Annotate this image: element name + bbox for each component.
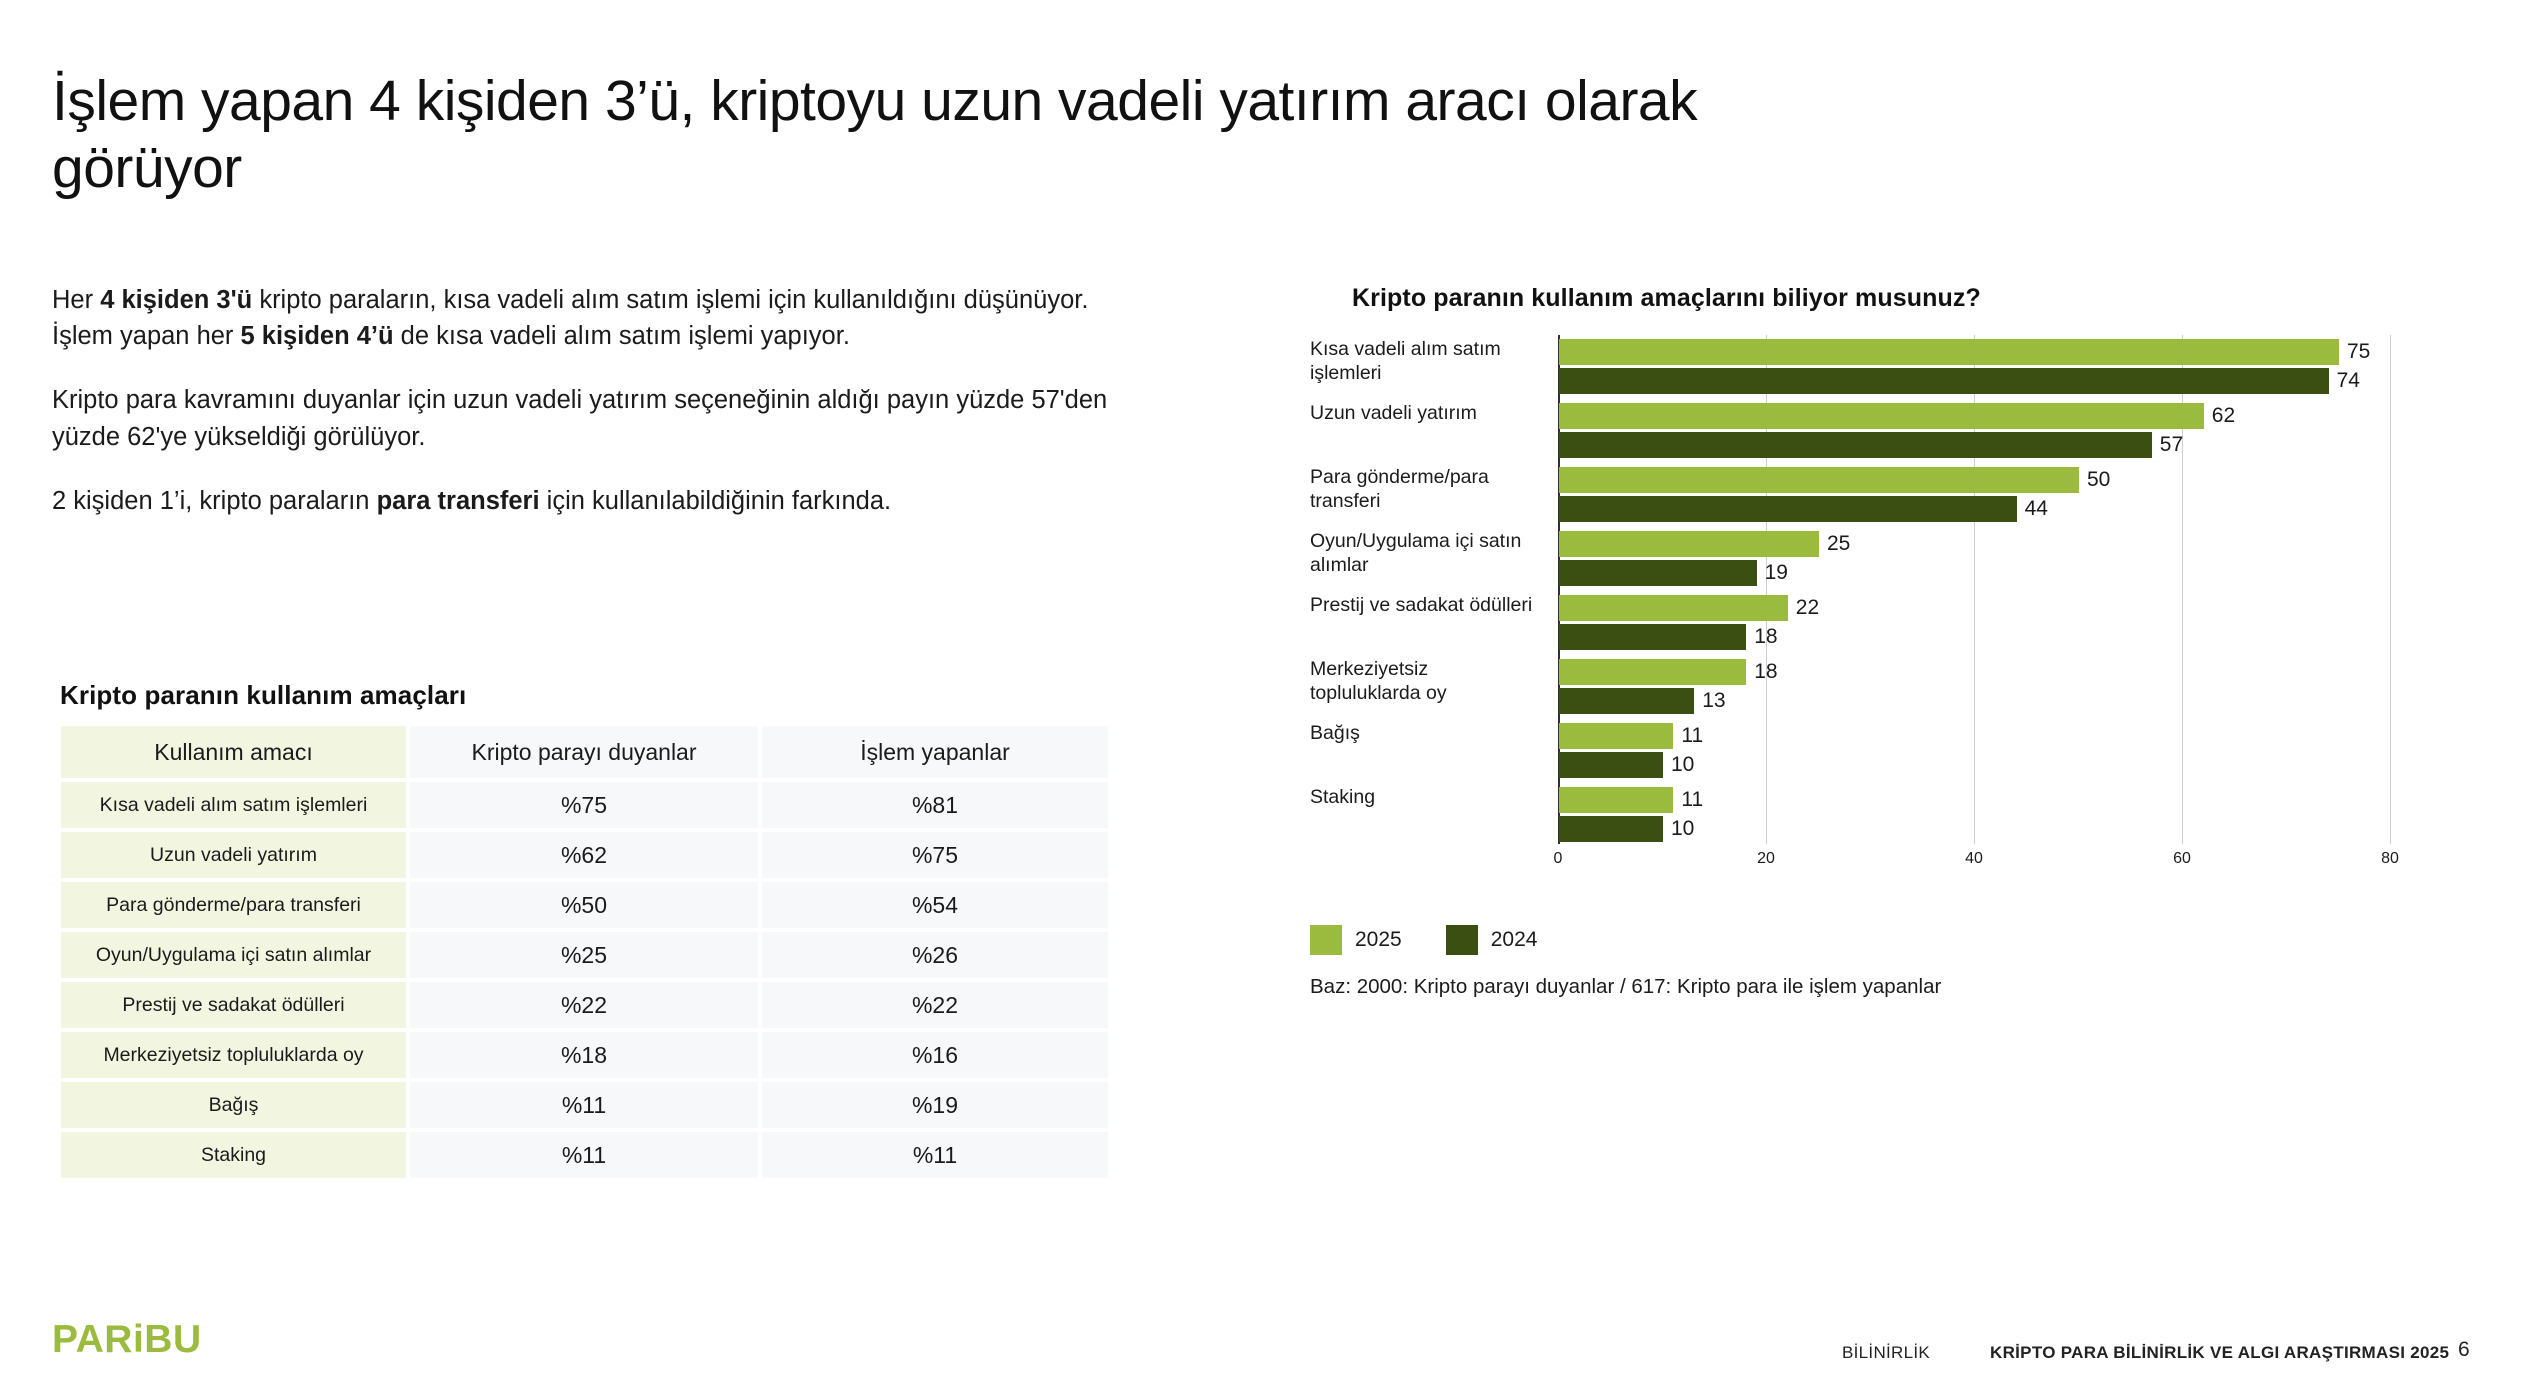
table-cell-purpose: Para gönderme/para transferi bbox=[61, 882, 406, 928]
p1-part-a: Her bbox=[52, 286, 100, 314]
chart-bar bbox=[1559, 560, 1757, 586]
chart-bar-value: 11 bbox=[1681, 723, 1703, 749]
table-cell-traders: %26 bbox=[762, 932, 1108, 978]
chart-bar-value: 10 bbox=[1671, 816, 1694, 842]
chart-bar bbox=[1559, 467, 2079, 493]
table-cell-traders: %19 bbox=[762, 1082, 1108, 1128]
chart-x-tick-label: 40 bbox=[1965, 850, 1983, 868]
paragraph-1: Her 4 kişiden 3'ü kripto paraların, kısa… bbox=[52, 282, 1142, 354]
chart-x-tick-label: 80 bbox=[2381, 850, 2399, 868]
chart-bar bbox=[1559, 531, 1819, 557]
chart-bar-value: 25 bbox=[1827, 531, 1850, 557]
chart-legend: 2025 2024 bbox=[1310, 925, 1567, 955]
chart-bar bbox=[1559, 624, 1746, 650]
table-cell-aware: %50 bbox=[410, 882, 758, 928]
chart-bar-value: 75 bbox=[2347, 339, 2370, 365]
chart-bar bbox=[1559, 595, 1788, 621]
chart-base-note: Baz: 2000: Kripto parayı duyanlar / 617:… bbox=[1310, 975, 1941, 999]
chart-category-label: Para gönderme/para transferi bbox=[1310, 466, 1538, 514]
p3-part-a: 2 kişiden 1’i, kripto paraların bbox=[52, 487, 377, 515]
legend-label-2024: 2024 bbox=[1491, 928, 1538, 952]
legend-swatch-2025-icon bbox=[1310, 925, 1342, 955]
chart-bar-value: 22 bbox=[1796, 595, 1819, 621]
table-cell-purpose: Uzun vadeli yatırım bbox=[61, 832, 406, 878]
chart-bar bbox=[1559, 787, 1673, 813]
table-cell-aware: %25 bbox=[410, 932, 758, 978]
table-row: Oyun/Uygulama içi satın alımlar%25%26 bbox=[61, 932, 1108, 978]
chart-bar bbox=[1559, 496, 2017, 522]
chart-category-label: Kısa vadeli alım satım işlemleri bbox=[1310, 338, 1538, 386]
chart-bar-value: 13 bbox=[1702, 688, 1725, 714]
table-cell-purpose: Staking bbox=[61, 1132, 406, 1178]
chart-bar-value: 18 bbox=[1754, 624, 1777, 650]
table-cell-aware: %62 bbox=[410, 832, 758, 878]
table-header-row: Kullanım amacı Kripto parayı duyanlar İş… bbox=[61, 726, 1108, 778]
chart-bar-value: 44 bbox=[2025, 496, 2048, 522]
p1-part-e: de kısa vadeli alım satım işlemi yapıyor… bbox=[394, 322, 850, 350]
paragraph-2: Kripto para kavramını duyanlar için uzun… bbox=[52, 382, 1142, 454]
table-cell-aware: %22 bbox=[410, 982, 758, 1028]
table-cell-traders: %54 bbox=[762, 882, 1108, 928]
table-cell-purpose: Oyun/Uygulama içi satın alımlar bbox=[61, 932, 406, 978]
table-cell-aware: %18 bbox=[410, 1032, 758, 1078]
chart-bar bbox=[1559, 659, 1746, 685]
chart-plot-area: 0204060807574625750442519221818131110111… bbox=[1558, 335, 2390, 844]
chart-category-label: Merkeziyetsiz topluluklarda oy bbox=[1310, 658, 1538, 706]
usage-purposes-table: Kullanım amacı Kripto parayı duyanlar İş… bbox=[57, 722, 1112, 1182]
table-row: Uzun vadeli yatırım%62%75 bbox=[61, 832, 1108, 878]
table-cell-traders: %22 bbox=[762, 982, 1108, 1028]
chart-x-tick-label: 20 bbox=[1757, 850, 1775, 868]
chart-bar-value: 50 bbox=[2087, 467, 2110, 493]
chart-x-tick-label: 0 bbox=[1554, 850, 1563, 868]
paribu-logo: PARiBU bbox=[52, 1318, 202, 1362]
chart-bar bbox=[1559, 432, 2152, 458]
table-header-traders: İşlem yapanlar bbox=[762, 726, 1108, 778]
table-cell-purpose: Merkeziyetsiz topluluklarda oy bbox=[61, 1032, 406, 1078]
chart-bar bbox=[1559, 816, 1663, 842]
table-row: Merkeziyetsiz topluluklarda oy%18%16 bbox=[61, 1032, 1108, 1078]
table-cell-purpose: Prestij ve sadakat ödülleri bbox=[61, 982, 406, 1028]
paragraph-3: 2 kişiden 1’i, kripto paraların para tra… bbox=[52, 483, 1142, 519]
legend-item-2025: 2025 bbox=[1310, 925, 1402, 955]
chart-bar bbox=[1559, 723, 1673, 749]
p3-part-c: için kullanılabildiğinin farkında. bbox=[540, 487, 892, 515]
table-header-purpose: Kullanım amacı bbox=[61, 726, 406, 778]
chart-category-labels: Kısa vadeli alım satım işlemleriUzun vad… bbox=[1310, 335, 1542, 851]
chart-bar-value: 18 bbox=[1754, 659, 1777, 685]
chart-category-label: Uzun vadeli yatırım bbox=[1310, 402, 1538, 426]
table-cell-traders: %81 bbox=[762, 782, 1108, 828]
table-row: Para gönderme/para transferi%50%54 bbox=[61, 882, 1108, 928]
chart-gridline bbox=[2390, 335, 2391, 844]
chart-category-label: Staking bbox=[1310, 786, 1538, 810]
chart-bar bbox=[1559, 403, 2204, 429]
chart-bar bbox=[1559, 688, 1694, 714]
chart-bar-value: 57 bbox=[2160, 432, 2183, 458]
chart-bar bbox=[1559, 368, 2329, 394]
chart-bar-value: 11 bbox=[1681, 787, 1703, 813]
chart-bar-value: 74 bbox=[2337, 368, 2360, 394]
chart-bar bbox=[1559, 752, 1663, 778]
table-cell-aware: %11 bbox=[410, 1082, 758, 1128]
legend-swatch-2024-icon bbox=[1446, 925, 1478, 955]
chart-category-label: Prestij ve sadakat ödülleri bbox=[1310, 594, 1538, 618]
p3-bold-1: para transferi bbox=[377, 487, 540, 515]
table-row: Kısa vadeli alım satım işlemleri%75%81 bbox=[61, 782, 1108, 828]
table-row: Prestij ve sadakat ödülleri%22%22 bbox=[61, 982, 1108, 1028]
table-cell-traders: %16 bbox=[762, 1032, 1108, 1078]
table-title: Kripto paranın kullanım amaçları bbox=[60, 680, 466, 711]
chart-bar bbox=[1559, 339, 2339, 365]
chart-category-label: Oyun/Uygulama içi satın alımlar bbox=[1310, 530, 1538, 578]
footer-section-label: BİLİNİRLİK bbox=[1842, 1343, 1930, 1363]
usage-awareness-bar-chart: Kısa vadeli alım satım işlemleriUzun vad… bbox=[1310, 335, 2440, 865]
p1-bold-2: 5 kişiden 4’ü bbox=[241, 322, 394, 350]
chart-category-label: Bağış bbox=[1310, 722, 1538, 746]
table-row: Bağış%11%19 bbox=[61, 1082, 1108, 1128]
table-cell-aware: %11 bbox=[410, 1132, 758, 1178]
footer-study-title: KRİPTO PARA BİLİNİRLİK VE ALGI ARAŞTIRMA… bbox=[1990, 1343, 2449, 1363]
intro-copy: Her 4 kişiden 3'ü kripto paraların, kısa… bbox=[52, 282, 1142, 519]
table-header-aware: Kripto parayı duyanlar bbox=[410, 726, 758, 778]
footer-page-number: 6 bbox=[2458, 1338, 2470, 1362]
table-cell-traders: %75 bbox=[762, 832, 1108, 878]
chart-x-tick-label: 60 bbox=[2173, 850, 2191, 868]
table-cell-purpose: Kısa vadeli alım satım işlemleri bbox=[61, 782, 406, 828]
chart-title: Kripto paranın kullanım amaçlarını biliy… bbox=[1352, 284, 1981, 313]
p1-bold-1: 4 kişiden 3'ü bbox=[100, 286, 252, 314]
chart-bar-value: 62 bbox=[2212, 403, 2235, 429]
table-cell-purpose: Bağış bbox=[61, 1082, 406, 1128]
table-cell-aware: %75 bbox=[410, 782, 758, 828]
legend-label-2025: 2025 bbox=[1355, 928, 1402, 952]
chart-bar-value: 10 bbox=[1671, 752, 1694, 778]
chart-bar-value: 19 bbox=[1765, 560, 1788, 586]
table-row: Staking%11%11 bbox=[61, 1132, 1108, 1178]
page-title: İşlem yapan 4 kişiden 3’ü, kriptoyu uzun… bbox=[52, 68, 1752, 203]
table-cell-traders: %11 bbox=[762, 1132, 1108, 1178]
legend-item-2024: 2024 bbox=[1446, 925, 1538, 955]
